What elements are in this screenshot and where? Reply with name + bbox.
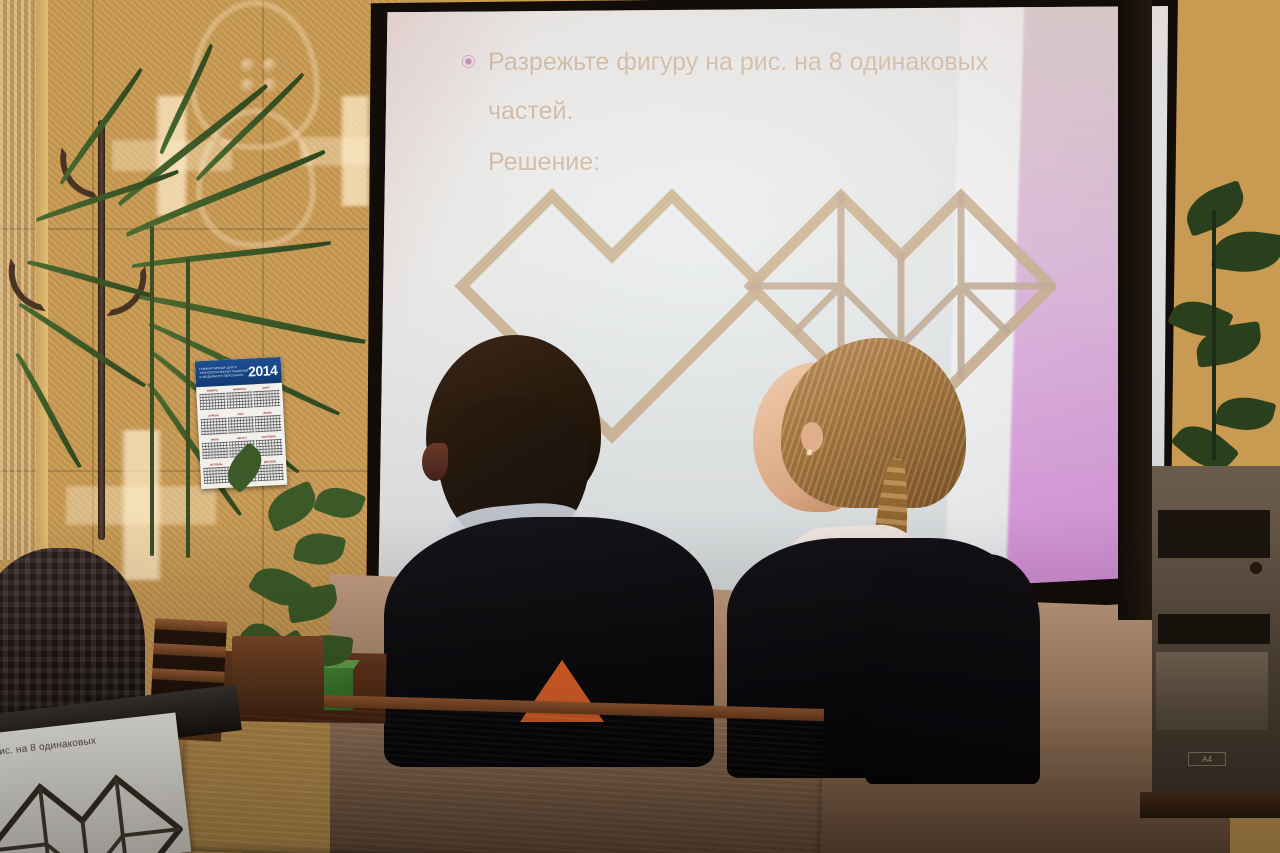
calendar-month: ИЮНЬ (254, 410, 281, 435)
calendar-month: ИЮЛЬ (202, 438, 229, 463)
calendar-month: ЯНВАРЬ (199, 389, 226, 414)
wall-dot-motif (240, 58, 256, 74)
slide-line-2: частей. (488, 97, 573, 125)
slide-bullet-item: Разрежьте фигуру на рис. на 8 одинаковых (462, 44, 1062, 81)
calendar-header: ГУМАНИТАРНЫЙ ЦЕНТР ТЕХНОЛОГИЧЕСКИХ РЕШЕН… (195, 357, 282, 387)
boy-ear (422, 443, 448, 481)
student-girl (745, 330, 1045, 760)
calendar-month: ФЕВРАЛЬ (226, 387, 253, 412)
girl-earring (807, 450, 812, 455)
printer-paper-slot (1158, 510, 1270, 558)
classroom-scene: ГУМАНИТАРНЫЙ ЦЕНТР ТЕХНОЛОГИЧЕСКИХ РЕШЕН… (0, 0, 1280, 853)
calendar-month: МАЙ (227, 412, 254, 437)
handout-text: у на рис. на 8 одинаковых (0, 736, 97, 761)
wooden-podium (180, 691, 824, 853)
printer-tray[interactable] (1156, 652, 1268, 730)
printer-output-slot (1158, 614, 1270, 644)
calendar-year: 2014 (248, 362, 278, 380)
slide-line-2-wrap: частей. (462, 93, 1062, 130)
calendar-month: АПРЕЛЬ (201, 413, 228, 438)
printer-power-knob[interactable] (1250, 562, 1262, 574)
girl-ear (801, 422, 823, 452)
slide-line-1: Разрежьте фигуру на рис. на 8 одинаковых (488, 48, 988, 76)
printed-handout[interactable]: у на рис. на 8 одинаковых (0, 712, 191, 853)
wall-dot-motif (262, 58, 278, 74)
office-printer: A4 (1152, 466, 1280, 796)
calendar-org-line3: И МЕДИЙНОГО ПЕРСОНАЛА (199, 373, 248, 379)
printer-shelf (1140, 792, 1280, 818)
slide-line-3: Решение: (488, 148, 600, 176)
handout-figure (0, 759, 186, 853)
slide-text-block: Разрежьте фигуру на рис. на 8 одинаковых… (462, 44, 1062, 181)
calendar-month: МАРТ (253, 386, 280, 411)
bullet-circle-icon (462, 55, 475, 68)
plant-pot (232, 636, 324, 714)
printer-tray-label: A4 (1188, 752, 1226, 766)
calendar-month: ОКТЯБРЬ (203, 462, 230, 487)
girl-cardigan-back (865, 554, 1040, 784)
right-wall-shadow (1118, 0, 1152, 620)
